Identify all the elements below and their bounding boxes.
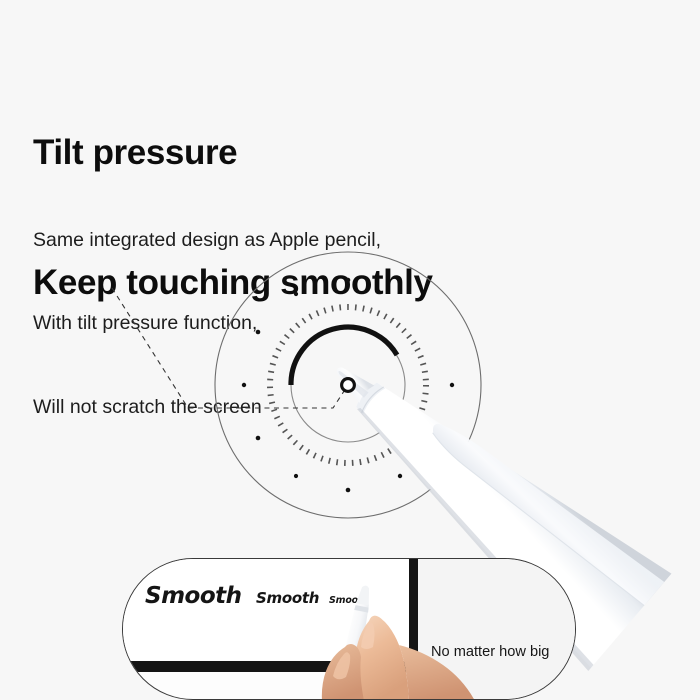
smooth-word-large: Smooth	[145, 583, 242, 609]
card-outline: Smooth Smooth Smoot	[122, 558, 576, 700]
tablet-bezel-bottom	[123, 661, 415, 672]
caption-line-1: No matter how big	[431, 642, 576, 663]
smooth-word-small: Smoot	[329, 595, 362, 606]
product-feature-page: Tilt pressure Keep touching smoothly Sam…	[0, 0, 700, 700]
card-caption: No matter how big words you write	[431, 601, 576, 700]
nib-contact-marker	[342, 379, 355, 392]
smooth-word-medium: Smooth	[256, 589, 319, 607]
writing-demo-card: Smooth Smooth Smoot	[122, 558, 576, 700]
tablet-screen	[123, 559, 409, 661]
tablet-bezel-right	[409, 559, 418, 672]
